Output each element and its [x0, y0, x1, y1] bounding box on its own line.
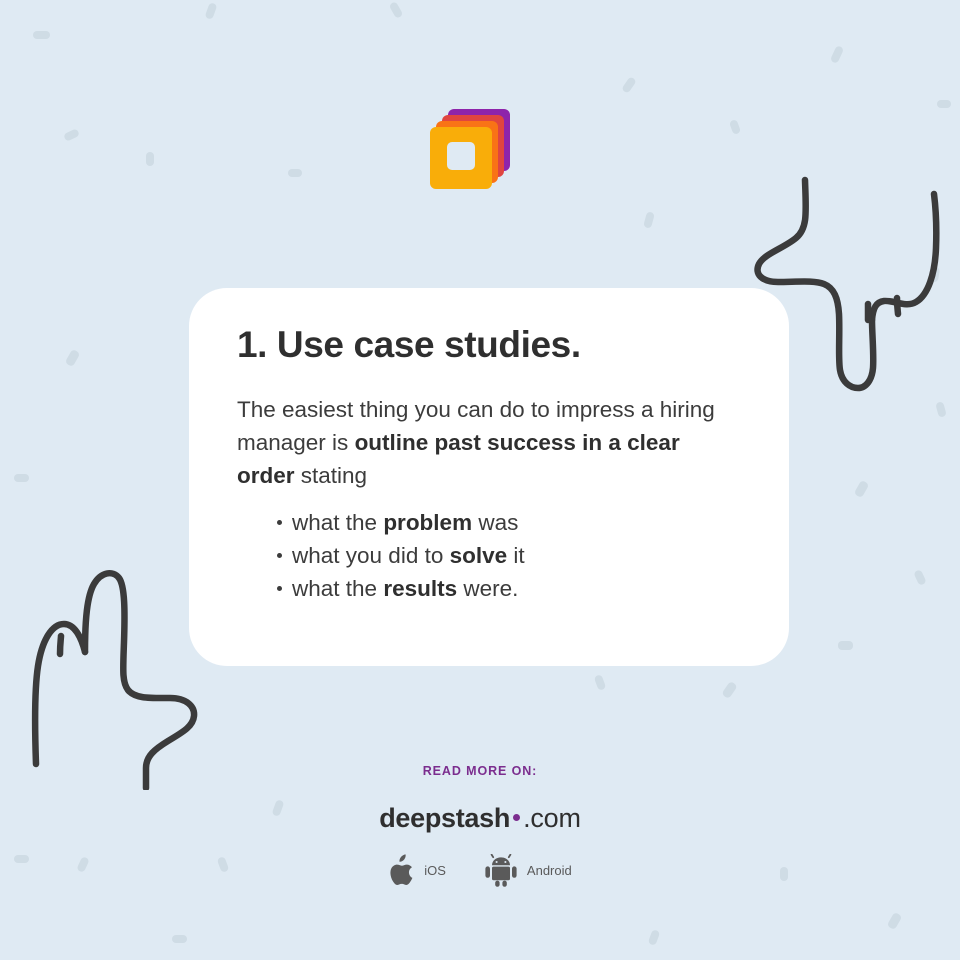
bullet-trail: it [507, 543, 525, 568]
bullet-emphasis: problem [383, 510, 472, 535]
bullet-emphasis: results [383, 576, 457, 601]
brand-tld: .com [523, 803, 581, 833]
bullet-trail: was [472, 510, 518, 535]
confetti-speck [146, 152, 154, 166]
confetti-speck [913, 569, 927, 586]
bullet-lead: what you did to [292, 543, 450, 568]
confetti-speck [65, 349, 81, 367]
confetti-speck [887, 912, 903, 930]
ios-store-badge[interactable]: iOS [388, 854, 446, 887]
confetti-speck [205, 2, 218, 20]
bullet-lead: what the [292, 510, 383, 535]
confetti-speck [621, 76, 637, 94]
android-store-label: Android [527, 863, 572, 878]
brand-wordmark[interactable]: deepstash.com [0, 805, 960, 832]
android-icon [484, 854, 518, 887]
list-item: what the results were. [277, 572, 741, 605]
hand-pointing-up-icon [18, 558, 218, 790]
brand-name: deepstash [379, 803, 510, 833]
confetti-speck [648, 929, 661, 946]
apple-icon [388, 854, 415, 887]
paragraph-trail: stating [295, 463, 368, 488]
confetti-speck [594, 674, 607, 691]
footer: READ MORE ON: deepstash.com iOS [0, 764, 960, 887]
confetti-speck [288, 169, 302, 177]
brand-dot-icon [513, 814, 520, 821]
list-item: what the problem was [277, 506, 741, 539]
confetti-speck [838, 641, 853, 650]
confetti-speck [172, 935, 187, 943]
confetti-speck [930, 266, 940, 282]
confetti-speck [14, 474, 29, 482]
read-more-label: READ MORE ON: [0, 764, 960, 778]
confetti-speck [854, 480, 870, 498]
store-badges: iOS Android [0, 854, 960, 887]
bullet-lead: what the [292, 576, 383, 601]
page-title: 1. Use case studies. [237, 324, 741, 367]
confetti-speck [389, 1, 404, 19]
bullet-emphasis: solve [450, 543, 508, 568]
poster-canvas: 1. Use case studies. The easiest thing y… [0, 0, 960, 960]
confetti-speck [935, 401, 947, 418]
confetti-speck [33, 31, 50, 39]
confetti-speck [721, 681, 738, 699]
confetti-speck [63, 128, 80, 142]
ios-store-label: iOS [424, 863, 446, 878]
card-bullet-list: what the problem was what you did to sol… [237, 506, 741, 605]
confetti-speck [643, 211, 655, 229]
bullet-trail: were. [457, 576, 518, 601]
confetti-speck [830, 45, 844, 64]
list-item: what you did to solve it [277, 539, 741, 572]
deepstash-logo-icon [430, 101, 516, 197]
android-store-badge[interactable]: Android [484, 854, 572, 887]
confetti-speck [937, 100, 951, 108]
confetti-speck [729, 119, 741, 135]
content-card: 1. Use case studies. The easiest thing y… [189, 288, 789, 666]
card-paragraph: The easiest thing you can do to impress … [237, 393, 741, 492]
